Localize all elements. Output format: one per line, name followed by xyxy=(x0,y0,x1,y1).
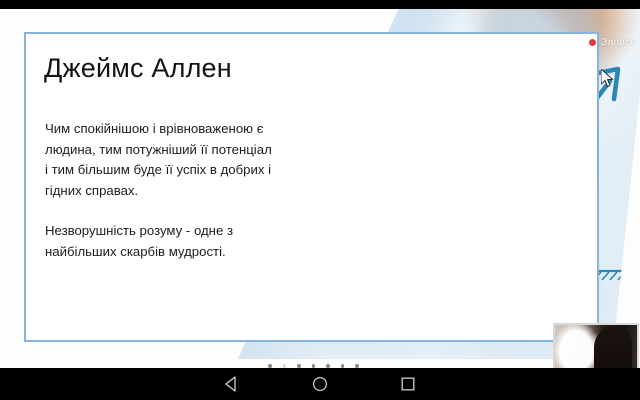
quote-text: Чим спокійнішою і врівноваженою є людина… xyxy=(45,119,275,262)
home-button[interactable] xyxy=(311,375,329,393)
android-nav-bar xyxy=(0,368,640,400)
pagination-dots[interactable] xyxy=(268,364,359,368)
record-dot-icon xyxy=(589,39,596,46)
recording-label: Запись xyxy=(601,37,636,48)
slide-page: potential stock stock dreamstime Джеймс … xyxy=(0,9,640,368)
pagination-dot[interactable] xyxy=(312,364,316,368)
quote-paragraph-2: Незворушність розуму - одне з найбільших… xyxy=(45,221,275,262)
back-button[interactable] xyxy=(223,375,241,393)
page-title: Джеймс Аллен xyxy=(44,53,232,84)
quote-paragraph-1: Чим спокійнішою і врівноваженою є людина… xyxy=(45,119,275,201)
mouse-cursor-icon xyxy=(601,69,614,88)
pagination-dot[interactable] xyxy=(283,364,287,368)
pagination-dot[interactable] xyxy=(355,364,359,368)
pagination-dot[interactable] xyxy=(326,364,330,368)
device-screen: potential stock stock dreamstime Джеймс … xyxy=(0,0,640,400)
pagination-dot[interactable] xyxy=(341,364,345,368)
pagination-dot[interactable] xyxy=(268,364,272,368)
recents-button[interactable] xyxy=(399,375,417,393)
pagination-dot[interactable] xyxy=(297,364,301,368)
recording-indicator: Запись xyxy=(589,37,636,48)
